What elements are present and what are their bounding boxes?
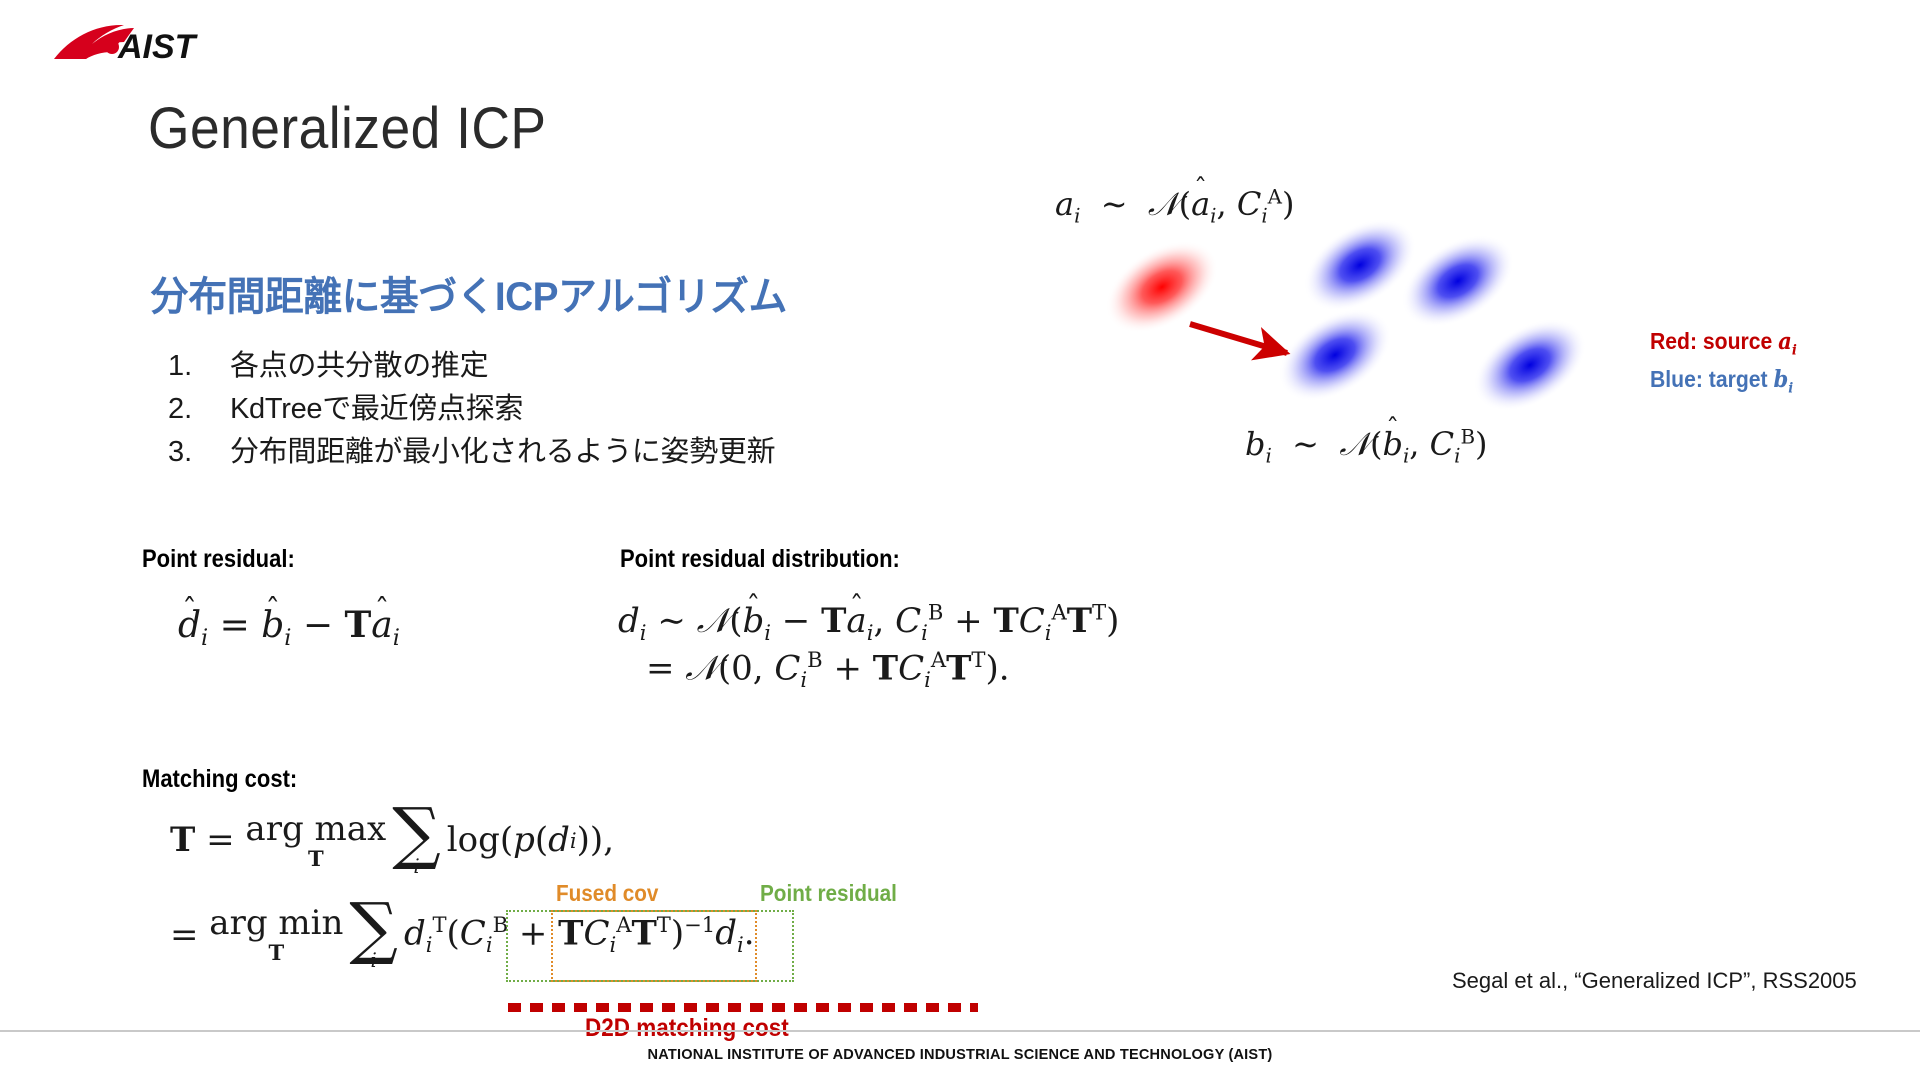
aist-logo: AIST [52, 22, 237, 68]
annotation-label-d2d-matching-cost: D2D matching cost [585, 1014, 789, 1043]
slide-canvas: AIST Generalized ICP 分布間距離に基づくICPアルゴリズム … [0, 0, 1920, 1080]
list-item: 2. KdTreeで最近傍点探索 [168, 385, 775, 428]
caption-matching-cost: Matching cost: [142, 765, 297, 794]
equation-matching-cost-line2: = arg minT ∑i diT(CiB + TCiATT)−1di. [170, 900, 755, 971]
section-heading: 分布間距離に基づくICPアルゴリズム [150, 264, 787, 322]
list-item: 1. 各点の共分散の推定 [168, 342, 775, 385]
target-blob [1457, 300, 1602, 430]
d2d-underline-decoration [508, 1003, 978, 1012]
svg-text:AIST: AIST [117, 28, 199, 66]
legend-target-label: Blue: target [1650, 366, 1768, 392]
legend-target-symbol: b [1773, 366, 1788, 393]
caption-point-residual: Point residual: [142, 545, 295, 574]
list-item-label: 各点の共分散の推定 [230, 342, 488, 384]
algorithm-steps-list: 1. 各点の共分散の推定 2. KdTreeで最近傍点探索 3. 分布間距離が最… [168, 342, 775, 471]
list-item-label: 分布間距離が最小化されるように姿勢更新 [230, 428, 775, 470]
list-item-label: KdTreeで最近傍点探索 [230, 385, 523, 427]
legend-source-label: Red: source [1650, 328, 1772, 354]
footer-divider [0, 1030, 1920, 1032]
footer-text: NATIONAL INSTITUTE OF ADVANCED INDUSTRIA… [29, 1046, 1891, 1063]
legend-target-subscript: i [1788, 380, 1793, 396]
list-item-number: 3. [168, 436, 230, 469]
legend-item-source: Red: source ai [1650, 328, 1797, 359]
legend-item-target: Blue: target bi [1650, 366, 1797, 397]
equation-matching-cost-line1: T = arg maxT ∑i log(p(di)), [170, 805, 755, 876]
correspondence-arrow [1190, 324, 1287, 353]
list-item-number: 2. [168, 393, 230, 426]
annotation-label-point-residual: Point residual [760, 880, 897, 907]
caption-point-residual-distribution: Point residual distribution: [620, 545, 900, 574]
legend-source-subscript: i [1792, 343, 1797, 359]
legend-source-symbol: a [1778, 328, 1792, 355]
equation-residual-distribution-line1: di ∼ 𝒩(ˆbi − Tˆai, CiB + TCiATT) [618, 601, 1119, 641]
equation-target-distribution: bi ∼ 𝒩(ˆbi, CiB) [1245, 425, 1488, 467]
equation-point-residual: ˆdi = ˆbi − Tˆai [178, 604, 400, 651]
list-item-number: 1. [168, 350, 230, 383]
equation-matching-cost: T = arg maxT ∑i log(p(di)), = arg minT ∑… [170, 805, 755, 970]
equation-residual-distribution: di ∼ 𝒩(ˆbi − Tˆai, CiB + TCiATT) = 𝒩(0, … [618, 600, 1119, 694]
equation-residual-distribution-line2: = 𝒩(0, CiB + TCiATT). [618, 647, 1119, 694]
citation-text: Segal et al., “Generalized ICP”, RSS2005 [1452, 968, 1857, 994]
page-title: Generalized ICP [148, 95, 546, 162]
list-item: 3. 分布間距離が最小化されるように姿勢更新 [168, 428, 775, 471]
aist-wordmark: AIST [117, 28, 199, 66]
diagram-legend: Red: source ai Blue: target bi [1650, 328, 1810, 396]
